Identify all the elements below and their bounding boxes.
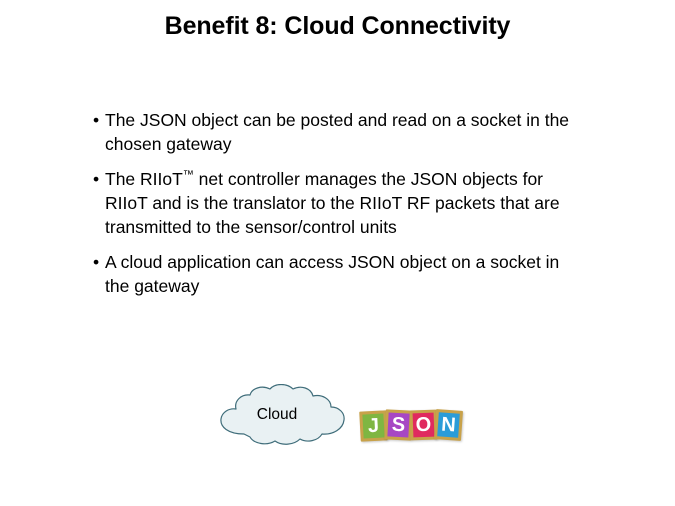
bullet-marker-icon: • <box>93 250 99 274</box>
json-tile-n: N <box>434 409 463 441</box>
list-item-text: A cloud application can access JSON obje… <box>105 250 584 298</box>
list-item-text: The RIIoT™ net controller manages the JS… <box>105 167 584 239</box>
list-item: • A cloud application can access JSON ob… <box>92 250 584 298</box>
cloud-shape: Cloud <box>214 384 354 450</box>
list-item: • The JSON object can be posted and read… <box>92 108 584 156</box>
bullet-marker-icon: • <box>93 167 99 191</box>
bullet-list: • The JSON object can be posted and read… <box>92 108 584 298</box>
slide-canvas: Benefit 8: Cloud Connectivity • The JSON… <box>0 0 675 506</box>
list-item-text-part-1: The RIIoT <box>105 169 183 189</box>
trademark-icon: ™ <box>183 169 194 181</box>
json-tile-s: S <box>384 409 413 440</box>
list-item-text: The JSON object can be posted and read o… <box>105 108 584 156</box>
bullet-marker-icon: • <box>93 108 99 132</box>
list-item: • The RIIoT™ net controller manages the … <box>92 167 584 239</box>
cloud-icon <box>214 384 354 450</box>
json-logo: J S O N <box>356 404 474 456</box>
page-title: Benefit 8: Cloud Connectivity <box>0 12 675 41</box>
